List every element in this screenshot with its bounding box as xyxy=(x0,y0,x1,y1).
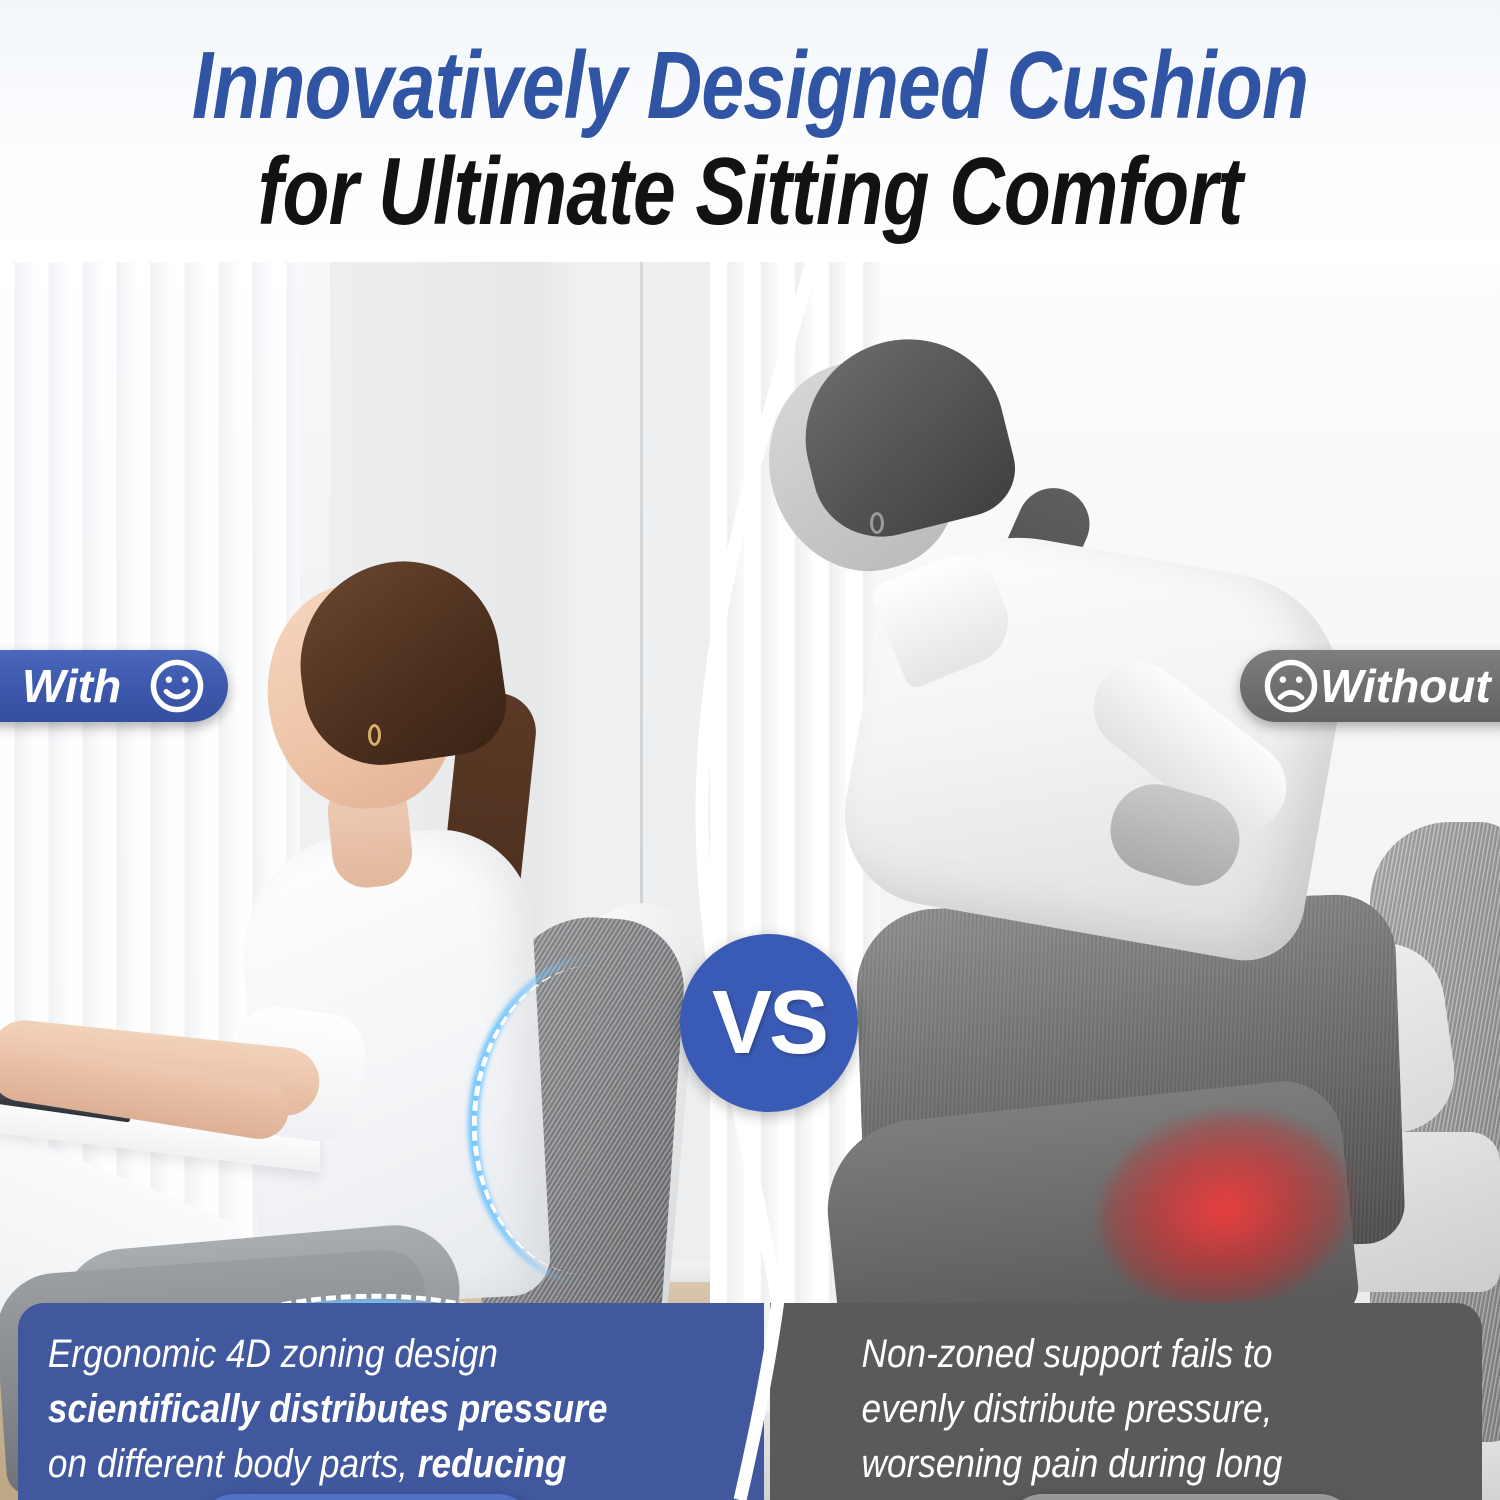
vs-badge: VS xyxy=(680,934,858,1112)
badge-brand-zikee[interactable]: Zikee xyxy=(196,1494,536,1500)
caption-left-panel: Ergonomic 4D zoning design scientificall… xyxy=(18,1303,764,1500)
caption-left-text: Ergonomic 4D zoning design scientificall… xyxy=(18,1327,674,1500)
badge-without[interactable]: Without xyxy=(1240,650,1500,722)
woman-earring xyxy=(368,724,381,746)
badge-with-label: With xyxy=(22,663,121,709)
headline-line-2: for Ultimate Sitting Comfort xyxy=(150,140,1350,244)
headline-line-1: Innovatively Designed Cushion xyxy=(150,34,1350,138)
caption-right-text: Non-zoned support fails to evenly distri… xyxy=(770,1327,1397,1500)
smiley-face-icon xyxy=(148,657,206,715)
woman-earring-right xyxy=(870,512,884,534)
sad-face-icon xyxy=(1262,657,1320,715)
badge-with[interactable]: With xyxy=(0,650,228,722)
badge-traditional[interactable]: Traditional xyxy=(1004,1494,1358,1500)
headline-banner: Innovatively Designed Cushion for Ultima… xyxy=(0,0,1500,262)
badge-without-label: Without xyxy=(1320,663,1491,709)
caption-right-panel: Non-zoned support fails to evenly distri… xyxy=(770,1303,1482,1500)
vs-label: VS xyxy=(712,978,826,1068)
